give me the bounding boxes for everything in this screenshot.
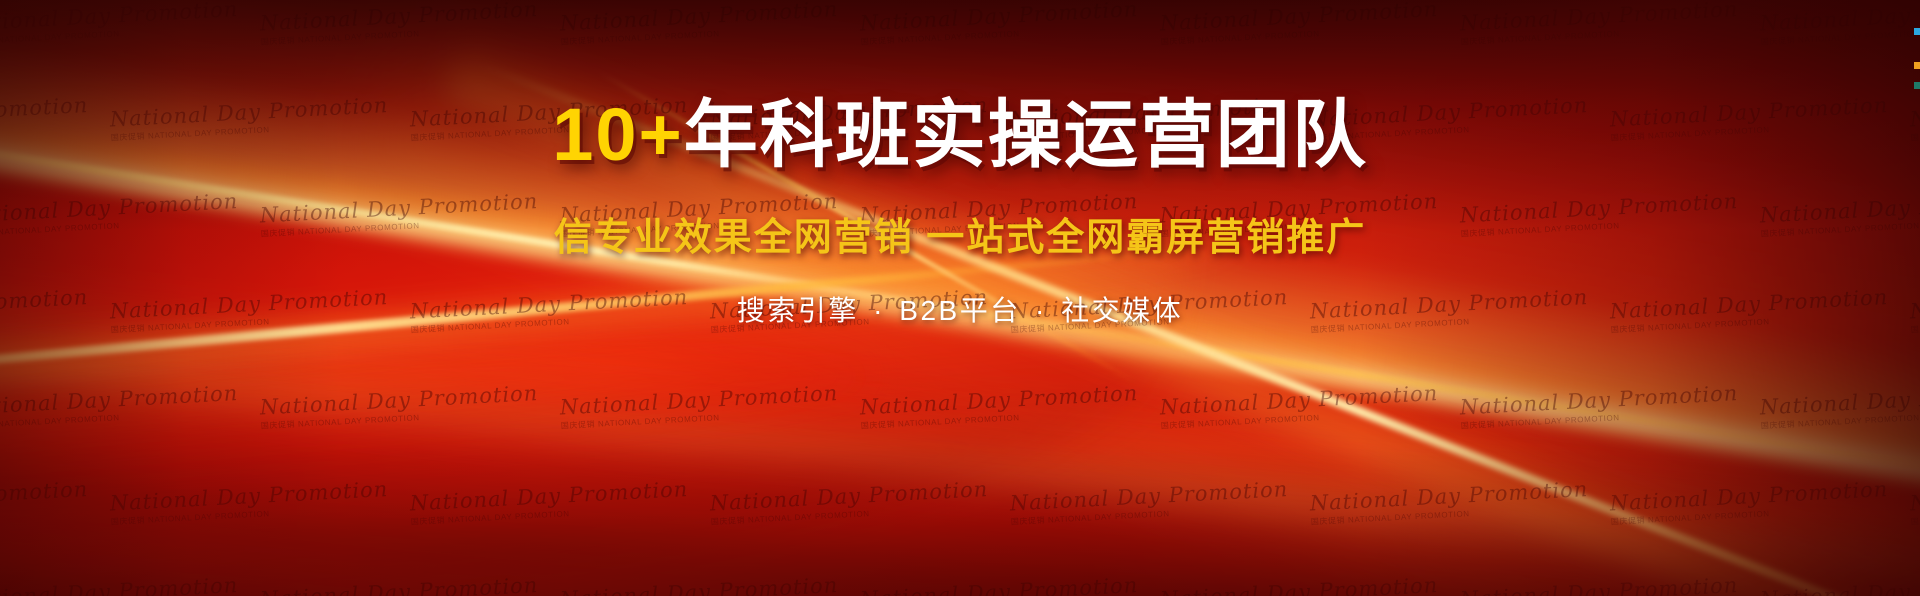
edge-artifact-cyan	[1914, 28, 1920, 35]
tagline-item-social-media: 社交媒体	[1061, 295, 1183, 326]
edge-artifact-orange	[1914, 62, 1920, 69]
headline: 10+年科班实操运营团队	[552, 98, 1368, 172]
edge-artifact-teal	[1914, 82, 1920, 89]
tagline-separator-icon: ·	[869, 295, 889, 326]
tagline-separator-2-icon: ·	[1031, 295, 1051, 326]
headline-text: 年科班实操运营团队	[684, 93, 1368, 176]
banner-content: 10+年科班实操运营团队 信专业效果全网营销 一站式全网霸屏营销推广 搜索引擎 …	[0, 0, 1920, 596]
headline-number: 10+	[552, 93, 684, 176]
promo-banner: National Day Promotion国庆促销 NATIONAL DAY …	[0, 0, 1920, 596]
tagline: 搜索引擎 · B2B平台 · 社交媒体	[737, 289, 1183, 329]
subheadline: 信专业效果全网营销 一站式全网霸屏营销推广	[554, 206, 1367, 261]
right-edge-artifacts	[1914, 0, 1920, 596]
tagline-item-search-engine: 搜索引擎	[737, 295, 859, 326]
tagline-item-b2b-platform: B2B平台	[899, 295, 1020, 326]
